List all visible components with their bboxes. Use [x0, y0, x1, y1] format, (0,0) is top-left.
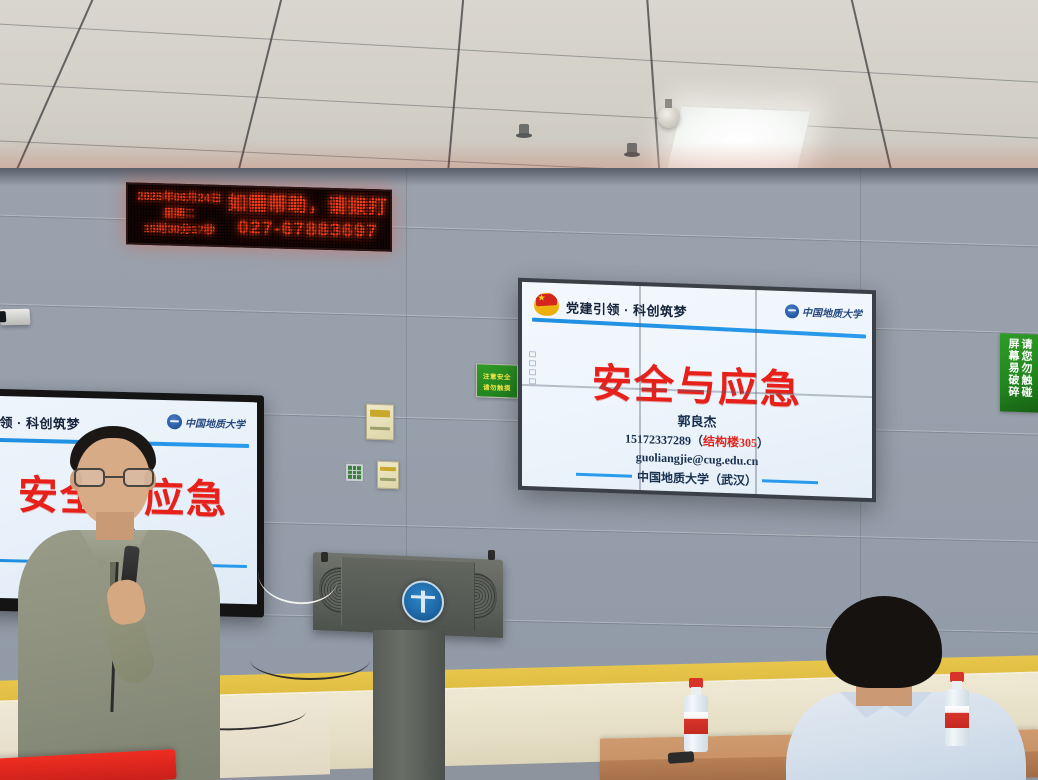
emergency-control-box[interactable]: [366, 404, 394, 441]
cug-name: 中国地质大学: [802, 304, 862, 321]
lecture-hall-scene: 2025年06月24日 星期二 15时30分17秒 如需帮助，请拨打 027-6…: [0, 0, 1038, 780]
video-wall-display: 党建引领 · 科创筑梦 中国地质大学 安全与应急 郭良杰 151723: [518, 278, 876, 503]
cug-mark-icon: [785, 304, 799, 318]
fire-sprinkler: [519, 124, 529, 136]
audience-head: [826, 596, 942, 688]
slide-room-number: 结构楼305: [703, 434, 757, 450]
slide-phone-number: 15172337289: [625, 431, 691, 447]
led-time: 15时30分17秒: [133, 221, 226, 240]
water-bottle-left: [684, 678, 708, 752]
audience-person: [786, 596, 1034, 780]
desk-microphone: [668, 751, 695, 764]
screen-warning-col1: 请您勿触碰: [1020, 338, 1031, 408]
podium-top: [313, 552, 503, 638]
ceiling-speaker: [658, 106, 680, 128]
presenter-person: [14, 412, 224, 780]
slide-contact-block: 郭良杰 15172337289（结构楼305） guoliangjie@cug.…: [522, 406, 872, 498]
slide-rule-top: [532, 318, 866, 339]
cug-logo: 中国地质大学: [785, 303, 862, 321]
safety-notice-line2: 请勿触摸: [483, 381, 511, 392]
presenter-neck: [96, 512, 134, 540]
screen-warning-sign: 请您勿触碰 屏幕易破碎: [1000, 333, 1038, 412]
led-datetime: 2025年06月24日 星期二 15时30分17秒: [128, 190, 226, 240]
slide-room-close: ）: [757, 436, 769, 450]
slide-room-open: （: [691, 433, 703, 447]
wall-camera: [0, 309, 31, 326]
video-wall-screen: 党建引领 · 科创筑梦 中国地质大学 安全与应急 郭良杰 151723: [522, 282, 872, 498]
podium-column: [373, 630, 445, 780]
screen-warning-col2: 屏幕易破碎: [1007, 338, 1018, 408]
led-message-line2: 027-67883697: [226, 216, 390, 244]
green-indicator-panel[interactable]: [345, 463, 364, 483]
bottle-label: [684, 712, 708, 734]
power-cable: [250, 640, 370, 680]
presenter-glasses: [74, 468, 154, 488]
podium-front-face: [341, 557, 475, 631]
access-control-box[interactable]: [377, 461, 399, 490]
safety-notice-sign-small: 注意安全 请勿触摸: [476, 363, 518, 398]
bottle-label: [945, 706, 969, 728]
slide-university: 中国地质大学（武汉）: [637, 467, 757, 489]
safety-notice-line1: 注意安全: [483, 370, 511, 381]
slide-header-text: 党建引领 · 科创筑梦: [566, 297, 687, 320]
water-bottle-right: [945, 672, 969, 746]
led-message-sign: 2025年06月24日 星期二 15时30分17秒 如需帮助，请拨打 027-6…: [126, 182, 392, 251]
podium-crest-icon: [402, 580, 444, 624]
podium-microphone-right: [488, 550, 495, 560]
led-message: 如需帮助，请拨打 027-67883697: [226, 192, 390, 244]
led-date: 2025年06月24日: [133, 190, 226, 209]
party-emblem-icon: [534, 292, 559, 316]
